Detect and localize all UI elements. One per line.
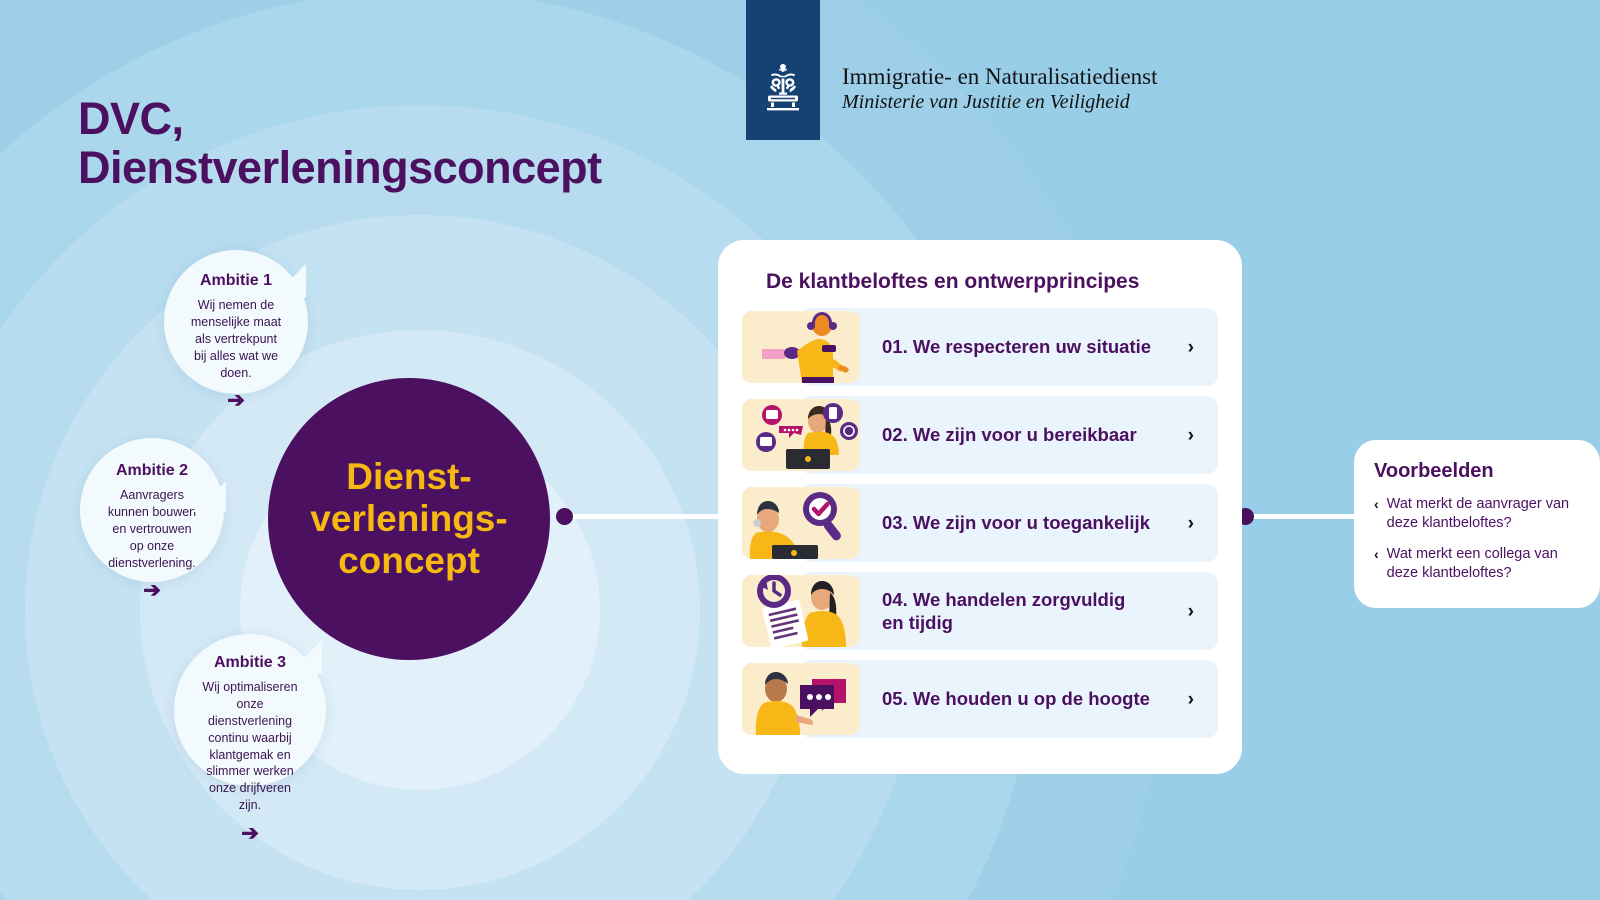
- page-title: DVC, Dienstverleningsconcept: [78, 95, 778, 192]
- ambition-body: Wij nemen de menselijke maat als vertrek…: [164, 297, 308, 381]
- arrow-right-icon[interactable]: ➔: [143, 580, 161, 601]
- ambition-bubble-1[interactable]: Ambitie 1 Wij nemen de menselijke maat a…: [164, 250, 308, 394]
- dutch-coat-of-arms-icon: [755, 62, 811, 124]
- example-text: Wat merkt de aanvrager van deze klantbel…: [1387, 495, 1582, 533]
- promise-label: 05. We houden u op de hoogte: [882, 687, 1188, 710]
- bubble-tail: [272, 264, 306, 298]
- promise-row-03[interactable]: 03. We zijn voor u toegankelijk ›: [742, 484, 1218, 562]
- man-with-magnifier-checkmark-illustration: [742, 487, 860, 559]
- ambition-bubble-3[interactable]: Ambitie 3 Wij optimaliseren onze dienstv…: [174, 634, 326, 786]
- voorbeelden-title: Voorbeelden: [1374, 460, 1582, 483]
- bubble-tail: [288, 640, 322, 674]
- ambition-body: Wij optimaliseren onze dienstverlening c…: [174, 679, 326, 814]
- man-with-speech-bubbles-illustration: [742, 663, 860, 735]
- woman-at-laptop-with-contact-icons-illustration: [742, 399, 860, 471]
- chevron-right-icon[interactable]: ›: [1188, 602, 1194, 621]
- logo-text-block: Immigratie- en Naturalisatiedienst Minis…: [842, 64, 1158, 114]
- example-item-1[interactable]: ‹ Wat merkt de aanvrager van deze klantb…: [1374, 495, 1582, 533]
- promise-label: 02. We zijn voor u bereikbaar: [882, 423, 1188, 446]
- promise-row-02[interactable]: 02. We zijn voor u bereikbaar ›: [742, 396, 1218, 474]
- promise-label: 01. We respecteren uw situatie: [882, 335, 1188, 358]
- ambition-bubble-2[interactable]: Ambitie 2 Aanvragers kunnen bouwen en ve…: [80, 438, 224, 582]
- klantbeloftes-panel: De klantbeloftes en ontwerpprincipes: [718, 240, 1242, 774]
- ambition-title: Ambitie 3: [214, 654, 286, 672]
- promise-label: 04. We handelen zorgvuldig en tijdig: [882, 588, 1188, 634]
- arrow-right-icon[interactable]: ➔: [227, 390, 245, 411]
- promise-row-05[interactable]: 05. We houden u op de hoogte ›: [742, 660, 1218, 738]
- promise-label: 03. We zijn voor u toegankelijk: [882, 511, 1188, 534]
- center-line-1: Dienst-: [310, 456, 507, 498]
- chevron-right-icon[interactable]: ›: [1188, 426, 1194, 445]
- woman-with-document-and-clock-illustration: [742, 575, 860, 647]
- panel-title: De klantbeloftes en ontwerpprincipes: [766, 270, 1218, 294]
- promise-row-04[interactable]: 04. We handelen zorgvuldig en tijdig ›: [742, 572, 1218, 650]
- page-title-line2: Dienstverleningsconcept: [78, 144, 778, 193]
- logo-blue-bar: [746, 0, 820, 140]
- connector-dot-left: [556, 508, 573, 525]
- chevron-right-icon[interactable]: ›: [1188, 338, 1194, 357]
- logo-organisation-name: Immigratie- en Naturalisatiedienst: [842, 64, 1158, 90]
- promise-row-01[interactable]: 01. We respecteren uw situatie ›: [742, 308, 1218, 386]
- chevron-left-icon: ‹: [1374, 495, 1379, 533]
- arrow-right-icon[interactable]: ➔: [241, 823, 259, 844]
- voorbeelden-panel: Voorbeelden ‹ Wat merkt de aanvrager van…: [1354, 440, 1600, 608]
- ambition-body: Aanvragers kunnen bouwen en vertrouwen o…: [80, 487, 224, 571]
- example-item-2[interactable]: ‹ Wat merkt een collega van deze klantbe…: [1374, 545, 1582, 583]
- center-circle-text: Dienst- verlenings- concept: [310, 456, 507, 581]
- page-title-line1: DVC,: [78, 93, 184, 144]
- government-logo: Immigratie- en Naturalisatiedienst Minis…: [746, 0, 1158, 140]
- center-line-2: verlenings-: [310, 498, 507, 540]
- center-line-3: concept: [310, 540, 507, 582]
- example-text: Wat merkt een collega van deze klantbelo…: [1387, 545, 1582, 583]
- handshake-with-headset-agent-illustration: [742, 311, 860, 383]
- center-concept-circle[interactable]: Dienst- verlenings- concept: [268, 378, 550, 660]
- chevron-right-icon[interactable]: ›: [1188, 514, 1194, 533]
- ambition-title: Ambitie 2: [116, 462, 188, 480]
- chevron-right-icon[interactable]: ›: [1188, 690, 1194, 709]
- connector-line-right: [1246, 514, 1362, 519]
- chevron-left-icon: ‹: [1374, 545, 1379, 583]
- logo-ministry-name: Ministerie van Justitie en Veiligheid: [842, 90, 1158, 114]
- ambition-title: Ambitie 1: [200, 272, 272, 290]
- connector-line-left: [566, 514, 728, 519]
- infographic-canvas: DVC, Dienstverleningsconcept: [0, 0, 1600, 900]
